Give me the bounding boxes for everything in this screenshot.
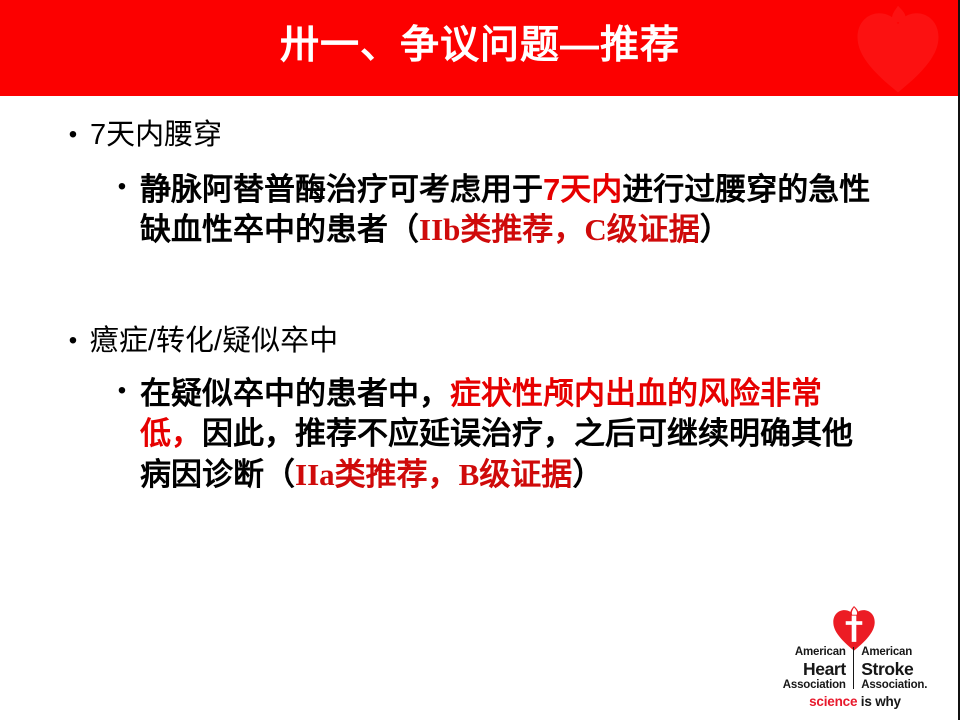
slide-title: 卅一、争议问题—推荐 xyxy=(0,0,960,96)
logo-tagline: science is why xyxy=(770,694,940,709)
bullet-marker-icon: • xyxy=(56,324,90,358)
bullet-marker-icon: • xyxy=(56,118,90,152)
aha-asa-logo: American Heart Association American Stro… xyxy=(770,606,940,710)
bullet-level1-text: 癔症/转化/疑似卒中 xyxy=(90,324,656,359)
segment-recommendation-class-iia: IIa类推荐，B级证据 xyxy=(295,457,572,492)
segment-text: ） xyxy=(700,212,731,247)
segment-text: ） xyxy=(572,457,603,492)
logo-right-association: Association. xyxy=(861,679,927,693)
logo-right-stroke: Stroke xyxy=(861,660,913,680)
logo-left-american: American xyxy=(795,646,846,660)
segment-highlight-7days: 7天内 xyxy=(543,172,622,207)
slide-body: • 7天内腰穿 • 静脉阿替普酶治疗可考虑用于7天内进行过腰穿的急性缺血性卒中的… xyxy=(0,96,960,596)
logo-tagline-accent: science xyxy=(809,694,857,709)
logo-stroke-association: American Stroke Association. xyxy=(854,646,934,693)
logo-tagline-rest: is why xyxy=(857,694,901,709)
logo-left-association: Association xyxy=(783,679,846,693)
bullet-level2-text: 在疑似卒中的患者中，症状性颅内出血的风险非常低，因此，推荐不应延误治疗，之后可继… xyxy=(140,374,875,495)
logo-wordmark: American Heart Association American Stro… xyxy=(770,646,940,693)
bullet-level2-text: 静脉阿替普酶治疗可考虑用于7天内进行过腰穿的急性缺血性卒中的患者（IIb类推荐，… xyxy=(140,170,875,251)
bullet-level1-lumbar-puncture: • 7天内腰穿 xyxy=(56,118,656,153)
segment-text: 静脉阿替普酶治疗可考虑用于 xyxy=(140,172,543,207)
segment-recommendation-class-iib: IIb类推荐，C级证据 xyxy=(419,212,700,247)
title-banner: 卅一、争议问题—推荐 xyxy=(0,0,960,96)
bullet-level1-stroke-mimic: • 癔症/转化/疑似卒中 xyxy=(56,324,656,359)
logo-heart-association: American Heart Association xyxy=(776,646,853,693)
logo-left-heart: Heart xyxy=(803,660,846,680)
slide-canvas: 卅一、争议问题—推荐 • 7天内腰穿 • 静脉阿替普酶治疗可考虑用于7天内进行过… xyxy=(0,0,960,720)
logo-right-american: American xyxy=(861,646,912,660)
bullet-level2-stroke-mimic-detail: • 在疑似卒中的患者中，症状性颅内出血的风险非常低，因此，推荐不应延误治疗，之后… xyxy=(104,374,904,495)
bullet-level2-lumbar-puncture-detail: • 静脉阿替普酶治疗可考虑用于7天内进行过腰穿的急性缺血性卒中的患者（IIb类推… xyxy=(104,170,904,251)
segment-text: 在疑似卒中的患者中， xyxy=(140,376,450,411)
sub-bullet-marker-icon: • xyxy=(104,374,140,408)
sub-bullet-marker-icon: • xyxy=(104,170,140,204)
bullet-level1-text: 7天内腰穿 xyxy=(90,118,656,153)
